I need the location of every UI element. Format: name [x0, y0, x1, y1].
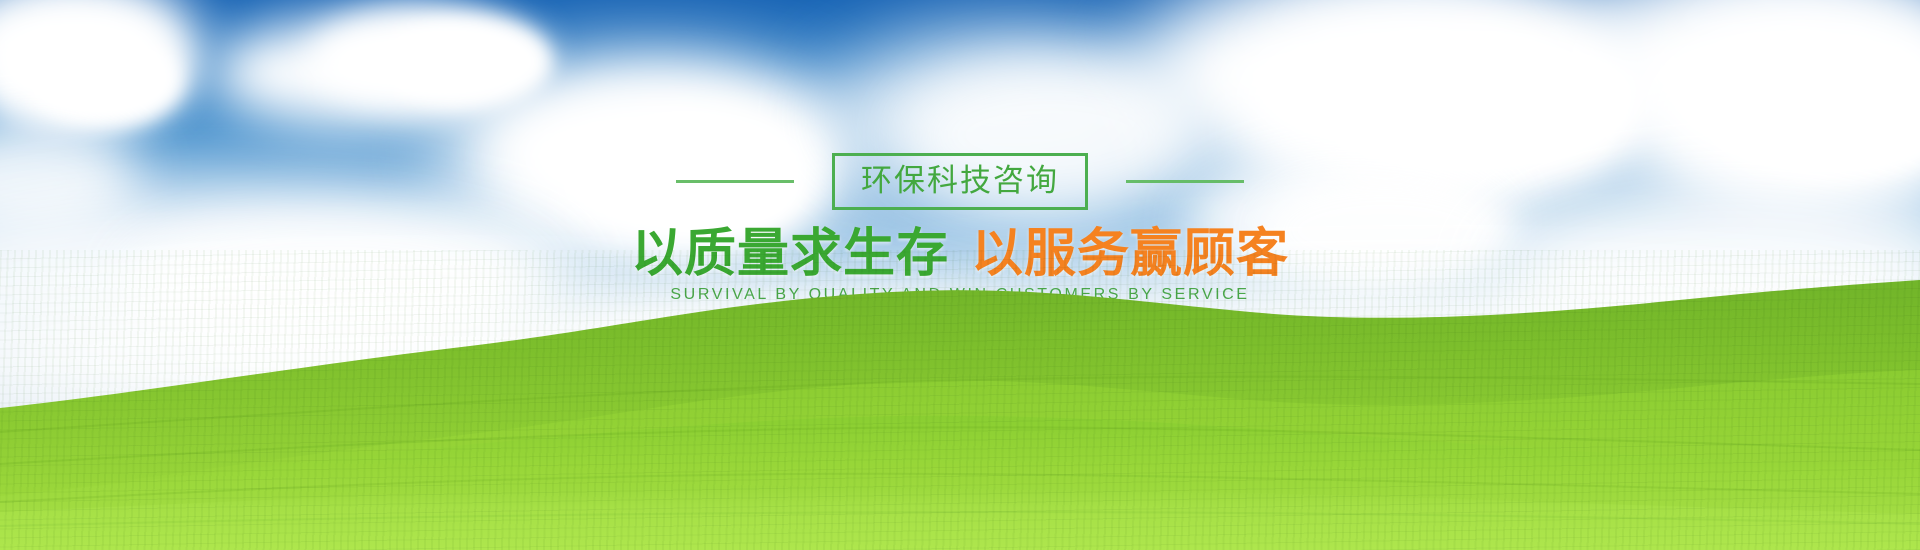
decorative-rule-right — [1126, 180, 1244, 183]
tagline-row: 环保科技咨询 — [0, 153, 1920, 210]
grass-hills — [0, 250, 1920, 550]
decorative-rule-left — [676, 180, 794, 183]
grass-hills-svg — [0, 250, 1920, 550]
tagline-box: 环保科技咨询 — [832, 153, 1088, 210]
hero-banner: 环保科技咨询 以质量求生存以服务赢顾客 SURVIVAL BY QUALITY … — [0, 0, 1920, 550]
tagline-text: 环保科技咨询 — [861, 166, 1059, 197]
